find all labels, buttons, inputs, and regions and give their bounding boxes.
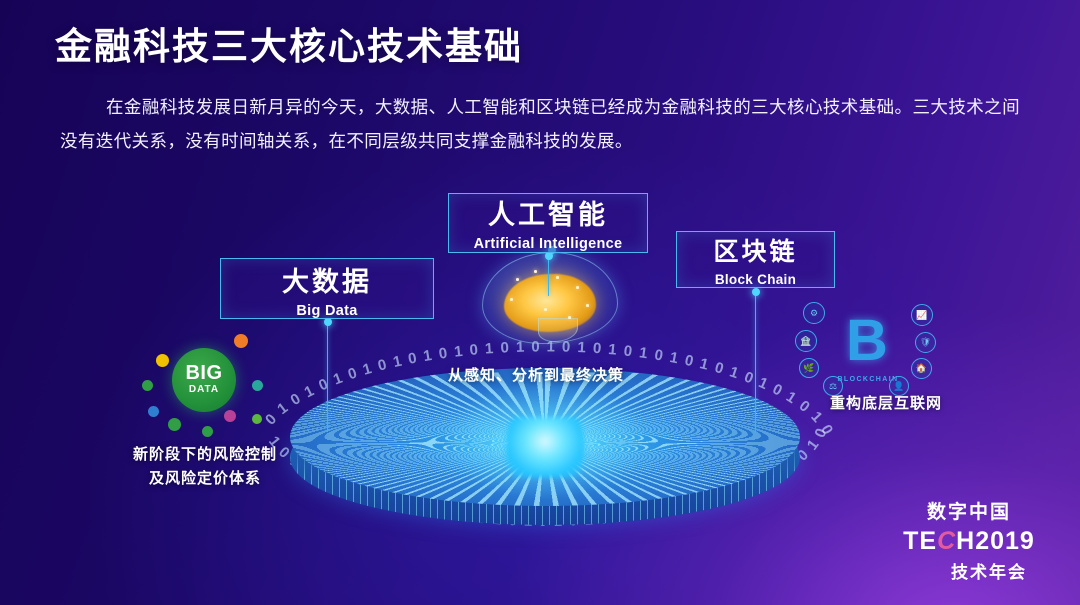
- brain-node: [534, 270, 537, 273]
- logo-line-1: 数字中国: [894, 497, 1044, 524]
- bc-node-bank-icon: 🏦: [795, 330, 817, 352]
- bd-node-yellow: [156, 354, 169, 367]
- logo-tech-rest: H: [956, 527, 975, 555]
- connector-dot: [752, 288, 760, 296]
- caption-ai: 从感知、分析到最终决策: [428, 364, 644, 388]
- card-blockchain-title-cn: 区块链: [677, 240, 834, 265]
- brain-node: [516, 278, 519, 281]
- caption-big-data-line1: 新阶段下的风险控制: [105, 443, 305, 467]
- brain-node: [556, 276, 559, 279]
- bc-node-chart-icon: 📈: [911, 304, 933, 326]
- big-data-badge-bottom: DATA: [189, 384, 219, 395]
- brain-node: [544, 308, 547, 311]
- bd-node-blue: [148, 406, 159, 417]
- connector-dot: [545, 252, 553, 260]
- card-big-data[interactable]: 大数据 Big Data: [220, 258, 434, 319]
- platform-disc: [290, 368, 800, 543]
- card-big-data-title-cn: 大数据: [221, 269, 433, 296]
- bc-node-leaf-icon: 🌿: [799, 358, 819, 378]
- disc-top-surface: [290, 368, 800, 506]
- logo-tech: TE: [903, 527, 937, 555]
- event-logo: 数字中国 TECH2019 技术年会: [894, 497, 1044, 583]
- caption-blockchain: 重构底层互联网: [808, 392, 964, 416]
- big-data-graphic: BIG DATA: [140, 322, 274, 438]
- brain-node: [576, 286, 579, 289]
- bc-node-settings-icon: ⚙: [803, 302, 825, 324]
- card-blockchain[interactable]: 区块链 Block Chain: [676, 231, 835, 288]
- brain-node: [510, 298, 513, 301]
- brain-node: [586, 304, 589, 307]
- card-artificial-intelligence[interactable]: 人工智能 Artificial Intelligence: [448, 193, 648, 253]
- brain-node: [568, 316, 571, 319]
- bd-node-magenta: [224, 410, 236, 422]
- card-ai-title-cn: 人工智能: [449, 202, 647, 229]
- body-paragraph: 在金融科技发展日新月异的今天，大数据、人工智能和区块链已经成为金融科技的三大核心…: [60, 90, 1020, 158]
- connector-blockchain: [755, 292, 756, 432]
- logo-tech-mark: C: [937, 527, 956, 555]
- card-big-data-title-en: Big Data: [221, 303, 433, 319]
- caption-big-data: 新阶段下的风险控制 及风险定价体系: [105, 443, 305, 491]
- disc-core-beam: [506, 418, 584, 478]
- bd-node-green-a: [142, 380, 153, 391]
- bc-node-home-icon: 🏠: [911, 358, 932, 379]
- card-blockchain-title-en: Block Chain: [677, 272, 834, 287]
- caption-big-data-line2: 及风险定价体系: [105, 467, 305, 491]
- bd-node-teal: [252, 380, 263, 391]
- bitcoin-b-icon: B: [841, 310, 893, 376]
- brain-graphic: [482, 252, 618, 344]
- logo-line-3: 技术年会: [894, 558, 1044, 583]
- bd-node-orange: [234, 334, 248, 348]
- bd-node-lime: [252, 414, 262, 424]
- logo-line-2: TECH2019: [894, 527, 1044, 556]
- connector-big-data: [327, 322, 328, 432]
- card-ai-title-en: Artificial Intelligence: [449, 236, 647, 252]
- logo-year: 2019: [975, 527, 1035, 555]
- slide-canvas: 金融科技三大核心技术基础 在金融科技发展日新月异的今天，大数据、人工智能和区块链…: [0, 0, 1080, 605]
- big-data-badge: BIG DATA: [172, 348, 236, 412]
- page-title: 金融科技三大核心技术基础: [55, 16, 523, 70]
- bd-node-olive: [202, 426, 213, 437]
- big-data-badge-top: BIG: [185, 365, 222, 382]
- connector-dot: [324, 318, 332, 326]
- connector-ai: [548, 256, 549, 296]
- bc-node-shield-icon: 🛡: [915, 332, 936, 353]
- blockchain-graphic: B BLOCKCHAIN ⚙ 🏦 🌿 ⚖ 📈 🛡 🏠 👤: [793, 302, 941, 398]
- bd-node-green-b: [168, 418, 181, 431]
